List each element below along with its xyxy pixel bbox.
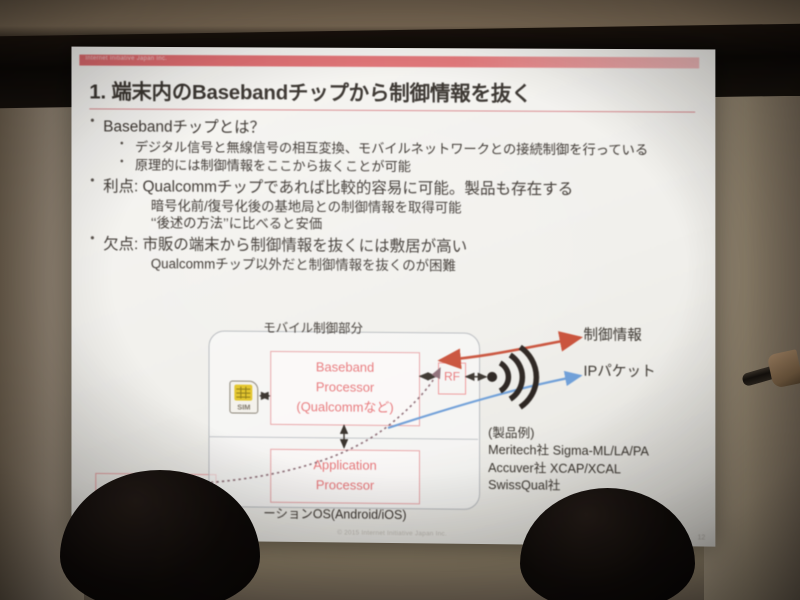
application-line-1: Application: [271, 456, 419, 475]
sim-chip-glyph: [234, 385, 252, 401]
application-processor-box: Application Processor: [270, 449, 420, 505]
ip-packet-label: IPパケット: [583, 360, 655, 382]
rf-box: RF: [438, 362, 466, 394]
page-number: 12: [697, 534, 705, 541]
mobile-section-label: モバイル制御部分: [263, 317, 363, 337]
bullet-item: デジタル信号と無線信号の相互変換、モバイルネットワークとの接続制御を行っている: [89, 138, 699, 159]
baseband-line-1: Baseband: [271, 358, 419, 376]
baseband-processor-box: Baseband Processor (Qualcommなど): [270, 351, 420, 426]
bullet-item-continuation: Qualcommチップ以外だと制御情報を抜くのが困難: [89, 256, 699, 277]
page-title: 1. 端末内のBasebandチップから制御情報を抜く: [89, 75, 695, 113]
rf-label: RF: [439, 369, 465, 383]
product-examples-list: (製品例) Meritech社 Sigma-ML/LA/PA Accuver社 …: [488, 425, 649, 496]
bullet-item: 利点: Qualcommチップであれば比較的容易に可能。製品も存在する: [89, 174, 699, 200]
product-examples-heading: (製品例): [488, 425, 649, 444]
product-example-item: Accuver社 XCAP/XCAL: [488, 460, 649, 479]
brand-bar: Internet Initiative Japan Inc.: [79, 55, 699, 69]
brand-bar-label: Internet Initiative Japan Inc.: [85, 56, 167, 62]
os-label: ーションOS(Android/iOS): [263, 503, 406, 524]
baseband-line-2: Processor: [271, 378, 419, 396]
bullet-list: Basebandチップとは？ デジタル信号と無線信号の相互変換、モバイルネットワ…: [89, 114, 699, 277]
product-example-item: Meritech社 Sigma-ML/LA/PA: [488, 442, 649, 461]
wall-right-shade: [704, 96, 800, 600]
control-info-label: 制御情報: [583, 324, 641, 346]
sim-label: SIM: [230, 402, 257, 411]
bullet-item: Basebandチップとは？: [89, 114, 699, 139]
photo-of-projected-slide: Internet Initiative Japan Inc. 1. 端末内のBa…: [0, 0, 800, 600]
bullet-item: 欠点: 市販の端末から制御情報を抜くには敷居が高い: [89, 232, 699, 258]
baseband-line-3: (Qualcommなど): [271, 398, 419, 417]
application-line-2: Processor: [271, 476, 419, 495]
sim-card-icon: SIM: [229, 381, 258, 414]
